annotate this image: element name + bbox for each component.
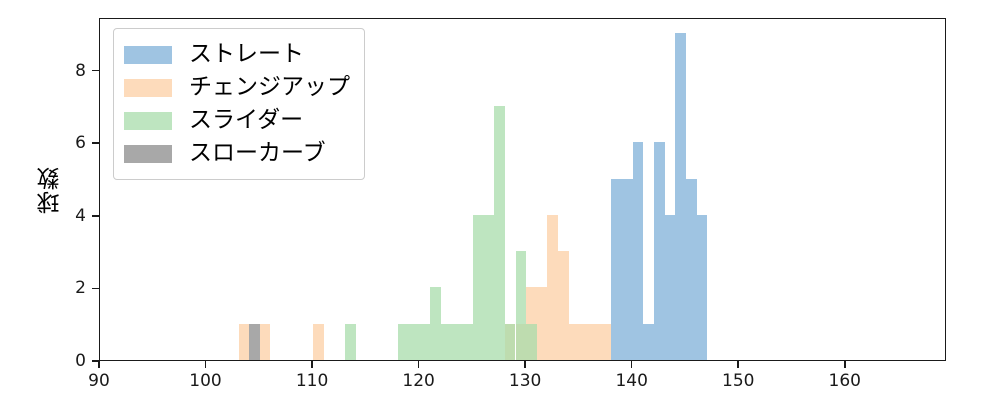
x-tick-label: 140	[602, 371, 662, 391]
legend-label: チェンジアップ	[189, 76, 350, 99]
legend-item-1: ストレート	[124, 38, 350, 71]
histogram-bar	[441, 324, 452, 360]
x-tick-mark	[737, 361, 739, 368]
histogram-bar	[569, 324, 580, 360]
x-tick-mark	[524, 361, 526, 368]
histogram-bar	[249, 324, 260, 360]
histogram-bar	[558, 251, 569, 360]
histogram-bar	[345, 324, 356, 360]
x-tick-mark	[418, 361, 420, 368]
histogram-bar	[409, 324, 420, 360]
histogram-bar	[313, 324, 324, 360]
histogram-bar	[686, 179, 697, 360]
histogram-bar	[260, 324, 271, 360]
legend-label: ストレート	[189, 43, 304, 66]
histogram-bar	[452, 324, 463, 360]
legend-item-2: チェンジアップ	[124, 71, 350, 104]
histogram-bar	[398, 324, 409, 360]
x-tick-mark	[311, 361, 313, 368]
histogram-figure: 球数 02468 90100110120130140150160 ストレートチェ…	[0, 0, 1000, 400]
histogram-bar	[473, 215, 484, 360]
legend-label: スローカーブ	[189, 142, 326, 165]
histogram-bar	[505, 324, 516, 360]
histogram-bar	[590, 324, 601, 360]
legend: ストレートチェンジアップスライダースローカーブ	[113, 28, 365, 180]
histogram-bar	[516, 251, 527, 360]
legend-swatch	[124, 112, 172, 130]
x-tick-label: 100	[176, 371, 236, 391]
histogram-bar	[462, 324, 473, 360]
x-tick-label: 120	[389, 371, 449, 391]
histogram-bar	[643, 324, 654, 360]
histogram-bar	[579, 324, 590, 360]
x-tick-mark	[98, 361, 100, 368]
histogram-bar	[420, 324, 431, 360]
histogram-bar	[526, 324, 537, 360]
histogram-bar	[484, 215, 495, 360]
histogram-bar	[547, 215, 558, 360]
x-tick-mark	[631, 361, 633, 368]
x-tick-label: 160	[815, 371, 875, 391]
histogram-bar	[633, 142, 644, 360]
histogram-bar	[601, 324, 612, 360]
x-tick-mark	[844, 361, 846, 368]
histogram-bar	[430, 287, 441, 360]
histogram-bar	[675, 33, 686, 360]
histogram-bar	[654, 142, 665, 360]
legend-swatch	[124, 145, 172, 163]
histogram-bar	[239, 324, 250, 360]
legend-item-4: スローカーブ	[124, 137, 350, 170]
x-tick-label: 110	[282, 371, 342, 391]
x-tick-label: 150	[708, 371, 768, 391]
x-tick-label: 90	[69, 371, 129, 391]
legend-swatch	[124, 79, 172, 97]
histogram-bar	[494, 106, 505, 360]
histogram-bar	[611, 179, 622, 360]
x-tick-label: 130	[495, 371, 555, 391]
x-tick-mark	[205, 361, 207, 368]
legend-swatch	[124, 46, 172, 64]
histogram-bar	[537, 287, 548, 360]
histogram-bar	[697, 215, 708, 360]
histogram-bar	[665, 215, 676, 360]
legend-label: スライダー	[189, 109, 303, 132]
legend-item-3: スライダー	[124, 104, 350, 137]
histogram-bar	[622, 179, 633, 360]
